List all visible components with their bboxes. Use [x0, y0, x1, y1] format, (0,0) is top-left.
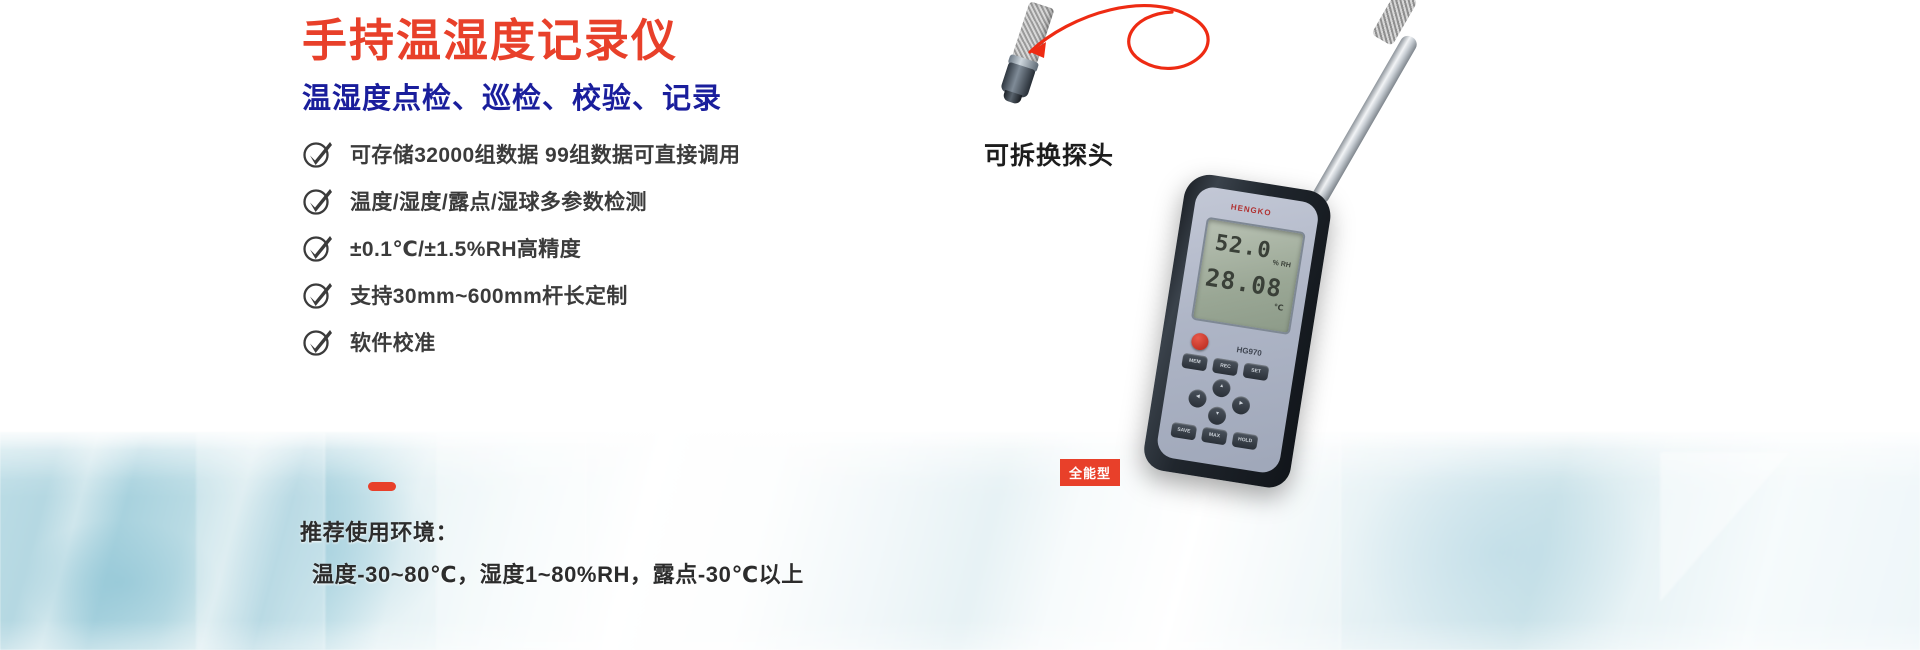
- status-badge: 全能型: [1060, 459, 1120, 486]
- list-item-label: 温度/湿度/露点/湿球多参数检测: [350, 186, 647, 216]
- list-item-label: 可存储32000组数据 99组数据可直接调用: [350, 139, 740, 169]
- environment-heading: 推荐使用环境：: [300, 520, 458, 545]
- list-item: 可存储32000组数据 99组数据可直接调用: [302, 130, 942, 177]
- key-left[interactable]: ◀: [1187, 388, 1208, 409]
- check-circle-icon: [302, 186, 336, 216]
- list-item: 支持30mm~600mm杆长定制: [302, 271, 942, 318]
- list-item: 温度/湿度/露点/湿球多参数检测: [302, 177, 942, 224]
- list-item-label: 支持30mm~600mm杆长定制: [350, 280, 628, 310]
- key-up[interactable]: ▲: [1211, 378, 1232, 399]
- check-circle-icon: [302, 139, 336, 169]
- key-max[interactable]: MAX: [1201, 427, 1228, 446]
- product-banner: 手持温湿度记录仪 温湿度点检、巡检、校验、记录 可存储32000组数据 99组数…: [0, 0, 1920, 650]
- product-image: HENGKO 52.0 % RH 28.08 ℃ HG970 MEM REC S…: [940, 0, 1460, 650]
- glass-triangle: [1660, 452, 1790, 602]
- accent-dash: [368, 482, 396, 491]
- probe-callout-label: 可拆换探头: [984, 136, 1114, 172]
- key-down[interactable]: ▼: [1207, 405, 1228, 426]
- callout-arrow-icon: [1000, 0, 1240, 110]
- check-circle-icon: [302, 327, 336, 357]
- key-set[interactable]: SET: [1242, 362, 1269, 381]
- check-circle-icon: [302, 233, 336, 263]
- environment-note: 推荐使用环境： 温度-30~80℃，湿度1~80%RH，露点-30℃以上: [300, 512, 804, 596]
- environment-detail: 温度-30~80℃，湿度1~80%RH，露点-30℃以上: [300, 554, 804, 596]
- handheld-meter: HENGKO 52.0 % RH 28.08 ℃ HG970 MEM REC S…: [1130, 170, 1430, 570]
- page-subtitle: 温湿度点检、巡检、校验、记录: [302, 80, 722, 118]
- humidity-unit: % RH: [1272, 260, 1291, 270]
- temperature-reading: 28.08: [1203, 263, 1284, 303]
- key-hold[interactable]: HOLD: [1231, 432, 1258, 451]
- key-right[interactable]: ▶: [1231, 395, 1252, 416]
- probe-stem: [1310, 33, 1420, 206]
- page-title: 手持温湿度记录仪: [302, 12, 678, 70]
- feature-list: 可存储32000组数据 99组数据可直接调用 温度/湿度/露点/湿球多参数检测 …: [302, 130, 942, 365]
- key-rec[interactable]: REC: [1212, 358, 1239, 377]
- list-item: ±0.1℃/±1.5%RH高精度: [302, 224, 942, 271]
- temperature-unit: ℃: [1273, 302, 1284, 312]
- check-circle-icon: [302, 280, 336, 310]
- key-mem[interactable]: MEM: [1181, 353, 1208, 372]
- humidity-reading: 52.0: [1213, 230, 1273, 264]
- keypad: MEM REC SET ▲ ◀ ▶ ▼ SAVE MAX HOLD: [1170, 353, 1283, 456]
- lcd-display: 52.0 % RH 28.08 ℃: [1191, 217, 1306, 335]
- key-save[interactable]: SAVE: [1170, 422, 1197, 441]
- list-item-label: 软件校准: [350, 327, 436, 357]
- list-item: 软件校准: [302, 318, 942, 365]
- list-item-label: ±0.1℃/±1.5%RH高精度: [350, 233, 581, 263]
